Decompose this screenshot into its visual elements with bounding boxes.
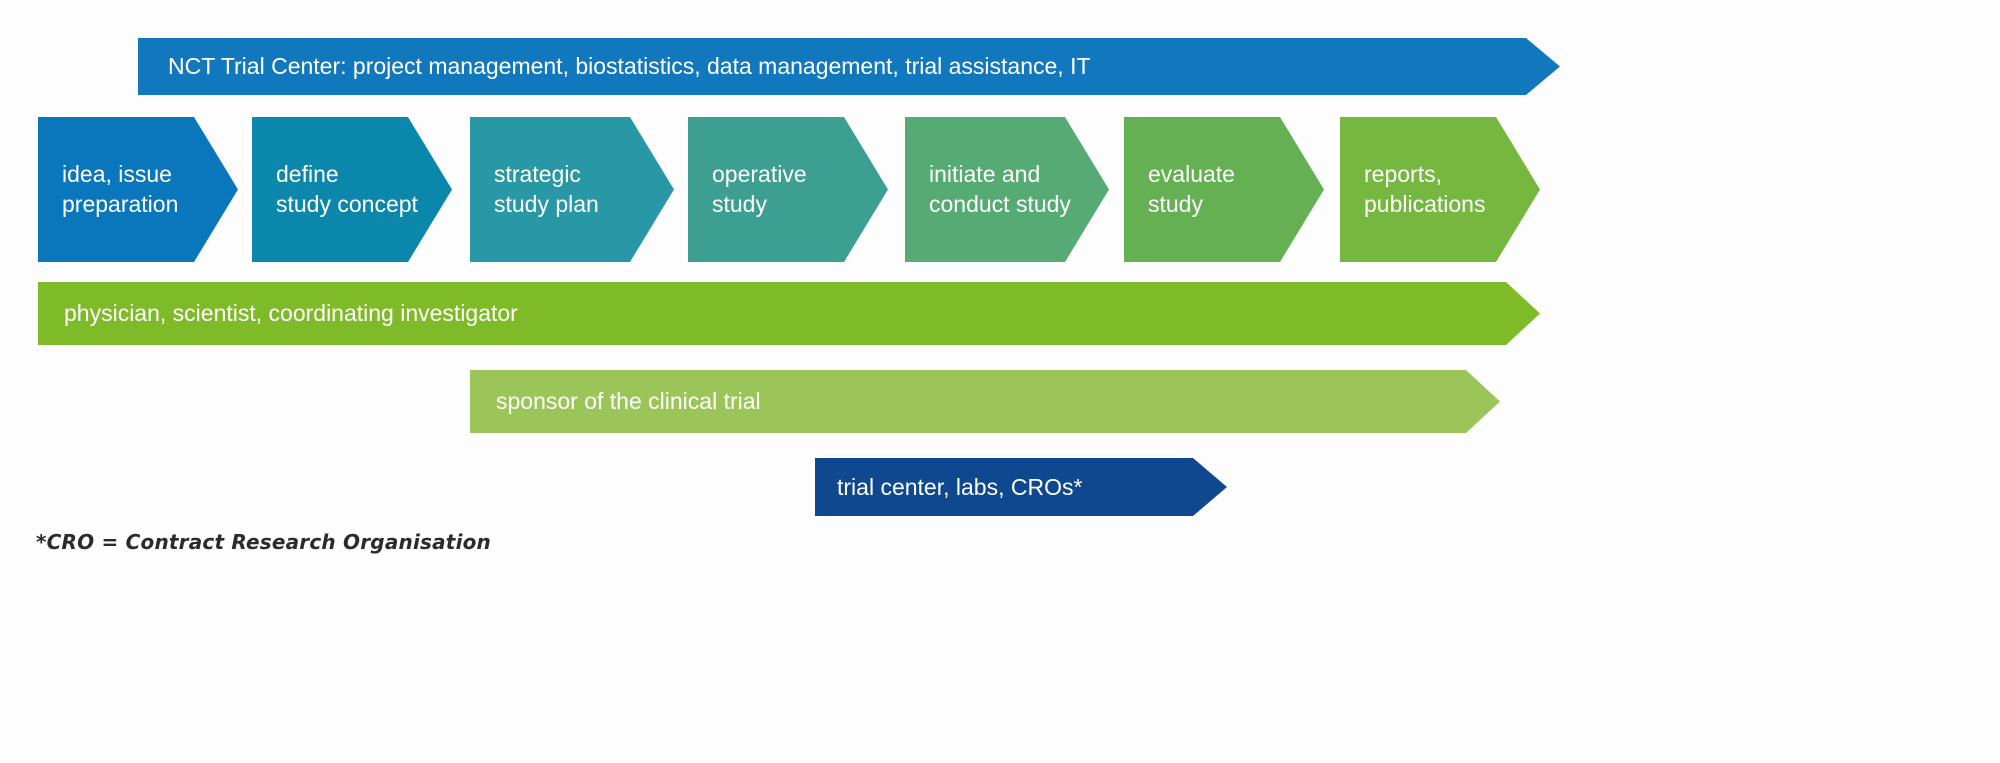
top-banner-nct-trial-center: NCT Trial Center: project management, bi…: [138, 38, 1560, 95]
process-step-initiate-and-conduct-study: initiate and conduct study: [905, 117, 1109, 262]
process-step-strategic-study-plan: strategic study plan: [470, 117, 674, 262]
role-band-label: sponsor of the clinical trial: [496, 387, 761, 416]
process-step-label: define study concept: [252, 160, 418, 220]
process-step-idea-issue-preparation: idea, issue preparation: [38, 117, 238, 262]
process-step-label: initiate and conduct study: [905, 160, 1071, 220]
process-step-label: evaluate study: [1124, 160, 1235, 220]
process-step-label: strategic study plan: [470, 160, 599, 220]
process-step-define-study-concept: define study concept: [252, 117, 452, 262]
process-step-reports-publications: reports, publications: [1340, 117, 1540, 262]
process-step-evaluate-study: evaluate study: [1124, 117, 1324, 262]
diagram-canvas: NCT Trial Center: project management, bi…: [0, 0, 2000, 763]
role-band-trial-center-labs-cros: trial center, labs, CROs*: [815, 458, 1227, 516]
process-step-operative-study: operative study: [688, 117, 888, 262]
role-band-physician-scientist: physician, scientist, coordinating inves…: [38, 282, 1540, 345]
role-band-label: trial center, labs, CROs*: [837, 473, 1082, 502]
process-step-label: idea, issue preparation: [38, 160, 178, 220]
top-banner-label: NCT Trial Center: project management, bi…: [168, 52, 1091, 81]
process-step-row: idea, issue preparation define study con…: [0, 117, 2000, 262]
process-step-label: reports, publications: [1340, 160, 1485, 220]
role-band-label: physician, scientist, coordinating inves…: [64, 299, 518, 328]
footnote-cro-definition: *CRO = Contract Research Organisation: [36, 530, 491, 554]
process-step-label: operative study: [688, 160, 807, 220]
role-band-sponsor: sponsor of the clinical trial: [470, 370, 1500, 433]
